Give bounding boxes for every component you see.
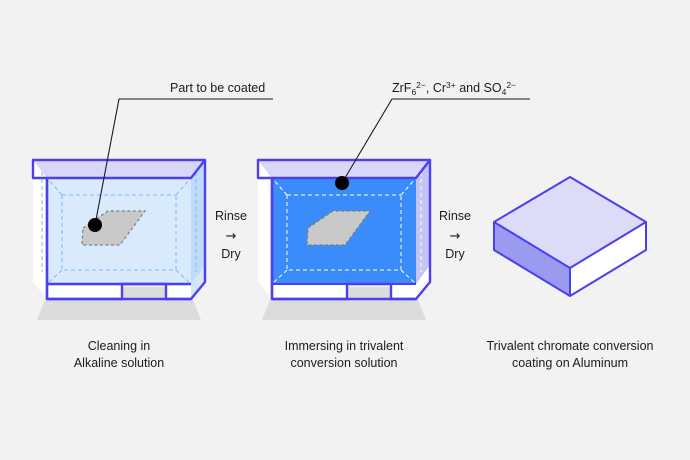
transition-1-dry-label: Dry <box>221 247 241 261</box>
formula-zrf-base: ZrF <box>392 81 412 95</box>
callout-1-dot-marker <box>88 218 102 232</box>
diagram-canvas: Cleaning in Alkaline solution Rinse → Dr… <box>0 0 690 460</box>
step-3-caption-line1: Trivalent chromate conversion <box>487 339 654 353</box>
formula-zrf-sup: 2− <box>416 80 426 90</box>
step-3-caption-line2: coating on Aluminum <box>512 356 628 370</box>
formula-cr-sup: 3+ <box>446 80 456 90</box>
tank-1-rim-top <box>33 160 205 178</box>
formula-so-base: and SO <box>456 81 502 95</box>
step-2-caption-line2: conversion solution <box>290 356 397 370</box>
formula-cr-base: , Cr <box>426 81 446 95</box>
arrow-right-icon-2: → <box>450 229 461 244</box>
arrow-right-icon: → <box>226 229 237 244</box>
tank-2-right-liquid <box>416 160 430 284</box>
tank-1-right-liquid <box>191 160 205 284</box>
step-2-caption-line1: Immersing in trivalent <box>285 339 404 353</box>
callout-1-label: Part to be coated <box>170 81 265 95</box>
transition-2-rinse-label: Rinse <box>439 209 471 223</box>
callout-2-dot-marker <box>335 176 349 190</box>
step-1-caption-line2: Alkaline solution <box>74 356 164 370</box>
step-1-caption-line1: Cleaning in <box>88 339 151 353</box>
transition-1-rinse-label: Rinse <box>215 209 247 223</box>
tank-2-left-wall <box>258 160 272 299</box>
tank-1-left-wall <box>33 160 47 299</box>
formula-so-sup: 2− <box>506 80 516 90</box>
tank-2-rim-top <box>258 160 430 178</box>
trivalent-chromate-process-diagram: Cleaning in Alkaline solution Rinse → Dr… <box>0 0 690 460</box>
transition-2-dry-label: Dry <box>445 247 465 261</box>
